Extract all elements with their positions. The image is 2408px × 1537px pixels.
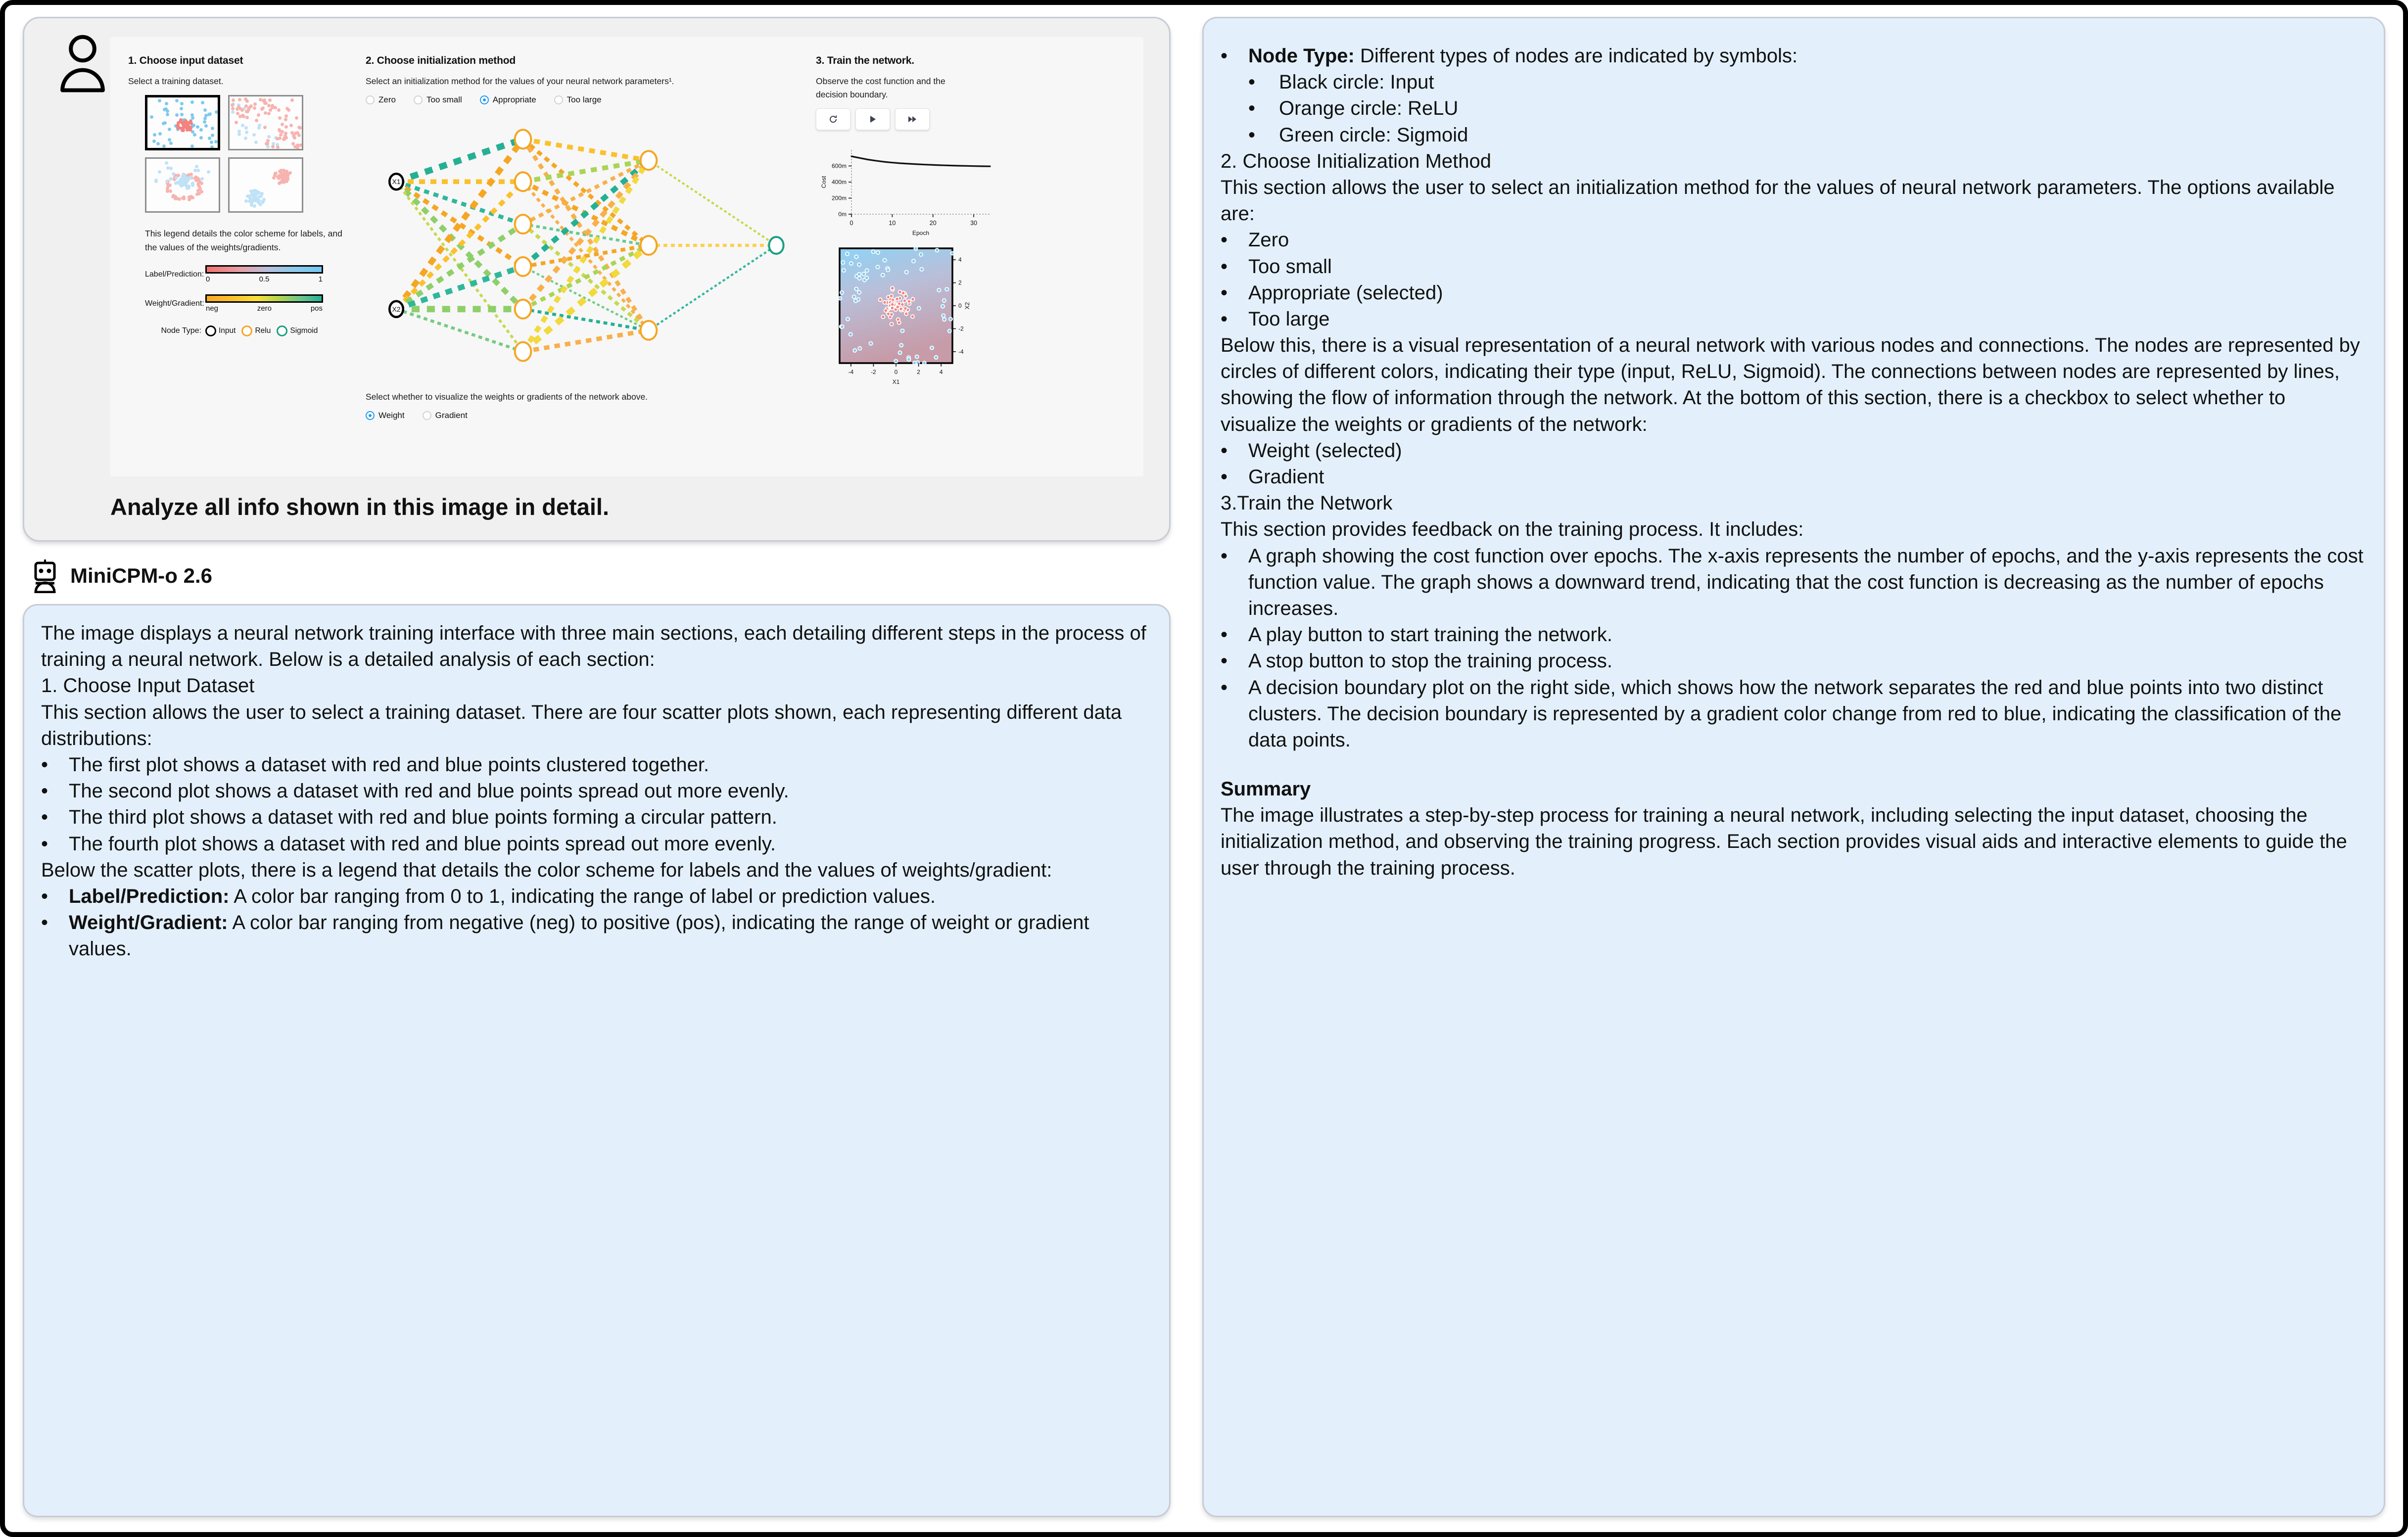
list-item-text: A decision boundary plot on the right si…	[1248, 675, 2365, 754]
svg-text:0m: 0m	[838, 211, 847, 218]
list-item: •Too large	[1221, 306, 2365, 332]
svg-text:0: 0	[958, 302, 962, 309]
node-type-name: Sigmoid	[290, 326, 318, 335]
svg-text:-4: -4	[958, 348, 964, 355]
list-item: •Green circle: Sigmoid	[1221, 122, 2365, 148]
svg-text:600m: 600m	[832, 163, 847, 170]
list-item-text: Weight (selected)	[1248, 438, 2365, 464]
svg-text:X2: X2	[392, 305, 400, 313]
right-column: •Node Type: Different types of nodes are…	[1202, 17, 2385, 1517]
list-item: •A decision boundary plot on the right s…	[1221, 675, 2365, 754]
node-type-name: Relu	[255, 326, 271, 335]
list-item-text: Too small	[1248, 254, 2365, 280]
panel1-subtext: Select a training dataset.	[128, 75, 361, 88]
neural-network-diagram[interactable]: X1X2	[366, 107, 801, 384]
colorbar-label: Weight/Gradient:	[145, 299, 205, 308]
colorbar-label-prediction: Label/Prediction: 0 0.5 1	[145, 265, 361, 283]
list-item-text: Different types of nodes are indicated b…	[1355, 45, 1797, 67]
radio-zero[interactable]: Zero	[366, 95, 396, 105]
list-item-bold: Weight/Gradient:	[69, 912, 228, 933]
robot-icon	[31, 559, 59, 593]
cbar-tick: zero	[257, 304, 272, 313]
svg-text:2: 2	[917, 369, 920, 375]
label-prediction-gradient	[205, 265, 323, 274]
node-type-name: Input	[219, 326, 236, 335]
list-item-text: Gradient	[1248, 464, 2365, 490]
list-item: •Zero	[1221, 227, 2365, 253]
neural-network-app: 1. Choose input dataset Select a trainin…	[117, 42, 1136, 467]
node-type-relu: Relu	[241, 326, 271, 336]
radio-icon-selected[interactable]	[366, 411, 375, 420]
panel2-heading: 2. Choose initialization method	[366, 55, 811, 67]
svg-text:X1: X1	[392, 178, 400, 186]
svg-text:200m: 200m	[832, 195, 847, 202]
list-item: •The first plot shows a dataset with red…	[41, 752, 1150, 778]
list-item: •Too small	[1221, 254, 2365, 280]
colorbar-label: Label/Prediction:	[145, 270, 205, 279]
svg-text:-2: -2	[871, 369, 876, 375]
attached-screenshot: 1. Choose input dataset Select a trainin…	[110, 37, 1143, 476]
input-node-icon	[205, 326, 216, 336]
answer-r-p1: This section allows the user to select a…	[1221, 175, 2365, 227]
step-button[interactable]	[895, 108, 930, 130]
list-item-bold: Node Type:	[1248, 45, 1355, 67]
left-column: 1. Choose input dataset Select a trainin…	[23, 17, 1171, 1517]
list-item-text: The second plot shows a dataset with red…	[69, 778, 1150, 804]
list-item-text: A color bar ranging from 0 to 1, indicat…	[230, 885, 936, 907]
user-avatar-icon	[54, 34, 111, 93]
cost-chart: 0m200m400m600m0102030EpochCost	[813, 141, 1001, 240]
radio-label: Weight	[378, 411, 405, 420]
svg-text:20: 20	[930, 220, 937, 227]
summary-heading: Summary	[1221, 776, 2365, 802]
list-item-text: Orange circle: ReLU	[1279, 95, 2365, 122]
list-item-text: Green circle: Sigmoid	[1279, 122, 2365, 148]
page-columns: 1. Choose input dataset Select a trainin…	[0, 0, 2408, 1537]
list-item: •The third plot shows a dataset with red…	[41, 804, 1150, 831]
svg-text:X2: X2	[964, 302, 971, 310]
dataset-thumb-4[interactable]	[228, 157, 303, 213]
model-name: MiniCPM-o 2.6	[70, 564, 212, 588]
svg-text:10: 10	[889, 220, 896, 227]
viz-radio-group[interactable]: Weight Gradient	[366, 411, 811, 420]
relu-node-icon	[241, 326, 252, 336]
svg-text:0: 0	[850, 220, 853, 227]
list-item-text: Black circle: Input	[1279, 69, 2365, 95]
prompt-text: Analyze all info shown in this image in …	[110, 493, 1152, 520]
svg-text:4: 4	[940, 369, 943, 375]
radio-too-large[interactable]: Too large	[554, 95, 602, 105]
svg-text:Cost: Cost	[820, 176, 827, 188]
cbar-tick: 0	[206, 275, 210, 283]
svg-text:-2: -2	[958, 326, 964, 332]
dataset-thumb-2[interactable]	[228, 95, 303, 150]
svg-text:400m: 400m	[832, 179, 847, 186]
svg-text:Epoch: Epoch	[912, 230, 929, 236]
list-item: •Gradient	[1221, 464, 2365, 490]
cbar-tick: 0.5	[259, 275, 270, 283]
list-item-text: Appropriate (selected)	[1248, 280, 2365, 306]
dataset-thumb-1[interactable]	[145, 95, 220, 150]
radio-label: Appropriate	[493, 95, 536, 105]
answer-heading-3: 3.Train the Network	[1221, 490, 2365, 516]
sigmoid-node-icon	[277, 326, 287, 336]
node-type-input: Input	[205, 326, 236, 336]
reset-icon	[828, 114, 838, 124]
dataset-thumbnails[interactable]	[145, 95, 361, 213]
panel-train-network: 3. Train the network. Observe the cost f…	[816, 55, 1024, 463]
dataset-thumb-3[interactable]	[145, 157, 220, 213]
panel2-viz-subtext: Select whether to visualize the weights …	[366, 390, 811, 404]
list-item: •Appropriate (selected)	[1221, 280, 2365, 306]
radio-icon[interactable]	[423, 411, 431, 420]
list-item: •Black circle: Input	[1221, 69, 2365, 95]
list-item-text: Too large	[1248, 306, 2365, 332]
panel1-heading: 1. Choose input dataset	[128, 55, 361, 67]
list-item: •Weight (selected)	[1221, 438, 2365, 464]
user-prompt-card: 1. Choose input dataset Select a trainin…	[23, 17, 1171, 542]
svg-text:2: 2	[958, 279, 962, 286]
radio-label: Too large	[567, 95, 602, 105]
node-type-legend: Node Type: Input Relu Sigm	[145, 326, 361, 336]
panel3-subtext: Observe the cost function and the decisi…	[816, 75, 964, 101]
list-item: •Orange circle: ReLU	[1221, 95, 2365, 122]
list-item: •A graph showing the cost function over …	[1221, 543, 2365, 622]
answer-intro: The image displays a neural network trai…	[41, 620, 1150, 673]
radio-icon[interactable]	[366, 95, 375, 104]
svg-text:-4: -4	[848, 369, 853, 375]
list-item: •The fourth plot shows a dataset with re…	[41, 831, 1150, 857]
answer-r-p2: Below this, there is a visual representa…	[1221, 332, 2365, 438]
answer-r-p3: This section provides feedback on the tr…	[1221, 516, 2365, 543]
radio-too-small[interactable]: Too small	[414, 95, 462, 105]
radio-label: Too small	[426, 95, 462, 105]
play-icon	[868, 114, 878, 124]
svg-text:X1: X1	[893, 378, 900, 385]
svg-text:4: 4	[958, 256, 962, 263]
colorbar-weight-gradient: Weight/Gradient: neg zero pos	[145, 294, 361, 313]
list-item: •Node Type: Different types of nodes are…	[1221, 43, 2365, 69]
cbar-tick: 1	[319, 275, 323, 283]
list-item: •A play button to start training the net…	[1221, 622, 2365, 648]
answer-heading-1: 1. Choose Input Dataset	[41, 673, 1150, 699]
answer-p1: This section allows the user to select a…	[41, 699, 1150, 752]
list-item: •The second plot shows a dataset with re…	[41, 778, 1150, 804]
panel-choose-initialization: 2. Choose initialization method Select a…	[366, 55, 811, 463]
radio-label: Gradient	[435, 411, 468, 420]
reset-button[interactable]	[816, 108, 850, 130]
radio-gradient[interactable]: Gradient	[423, 411, 468, 420]
list-item-text: The third plot shows a dataset with red …	[69, 804, 1150, 831]
answer-bubble-right: •Node Type: Different types of nodes are…	[1202, 17, 2385, 1517]
list-item-text: A play button to start training the netw…	[1248, 622, 2365, 648]
list-item-text: The fourth plot shows a dataset with red…	[69, 831, 1150, 857]
answer-p2: Below the scatter plots, there is a lege…	[41, 857, 1150, 884]
fast-forward-icon	[907, 114, 918, 124]
radio-label: Zero	[378, 95, 396, 105]
list-item-bold: Label/Prediction:	[69, 885, 230, 907]
radio-icon[interactable]	[554, 95, 563, 104]
list-item-text: Zero	[1248, 227, 2365, 253]
summary-text: The image illustrates a step-by-step pro…	[1221, 802, 2365, 882]
radio-weight[interactable]: Weight	[366, 411, 405, 420]
answer-heading-2: 2. Choose Initialization Method	[1221, 148, 2365, 175]
decision-boundary-chart: -4-2024-4-2024X1X2	[829, 245, 992, 394]
panel2-subtext: Select an initialization method for the …	[366, 75, 811, 88]
list-item: •A stop button to stop the training proc…	[1221, 648, 2365, 674]
radio-icon[interactable]	[414, 95, 423, 104]
node-type-sigmoid: Sigmoid	[277, 326, 318, 336]
list-item: •Weight/Gradient: A color bar ranging fr…	[41, 910, 1150, 962]
answer-bubble-left: The image displays a neural network trai…	[23, 604, 1171, 1517]
node-type-label: Node Type:	[145, 326, 205, 335]
init-method-radio-group[interactable]: Zero Too small Appropriate	[366, 95, 811, 105]
panel3-heading: 3. Train the network.	[816, 55, 1024, 67]
weight-gradient-gradient	[205, 294, 323, 303]
svg-text:0: 0	[895, 369, 898, 375]
radio-appropriate[interactable]: Appropriate	[480, 95, 536, 105]
train-controls[interactable]	[816, 108, 1024, 130]
panel-choose-dataset: 1. Choose input dataset Select a trainin…	[128, 55, 361, 463]
radio-icon-selected[interactable]	[480, 95, 489, 104]
svg-text:30: 30	[970, 220, 977, 227]
cbar-tick: neg	[206, 304, 218, 313]
legend-note: This legend details the color scheme for…	[145, 227, 353, 254]
list-item-text: A graph showing the cost function over e…	[1248, 543, 2365, 622]
list-item: •Label/Prediction: A color bar ranging f…	[41, 884, 1150, 910]
model-label-row: MiniCPM-o 2.6	[31, 559, 1171, 593]
list-item-text: The first plot shows a dataset with red …	[69, 752, 1150, 778]
play-button[interactable]	[855, 108, 890, 130]
cbar-tick: pos	[311, 304, 323, 313]
list-item-text: A stop button to stop the training proce…	[1248, 648, 2365, 674]
